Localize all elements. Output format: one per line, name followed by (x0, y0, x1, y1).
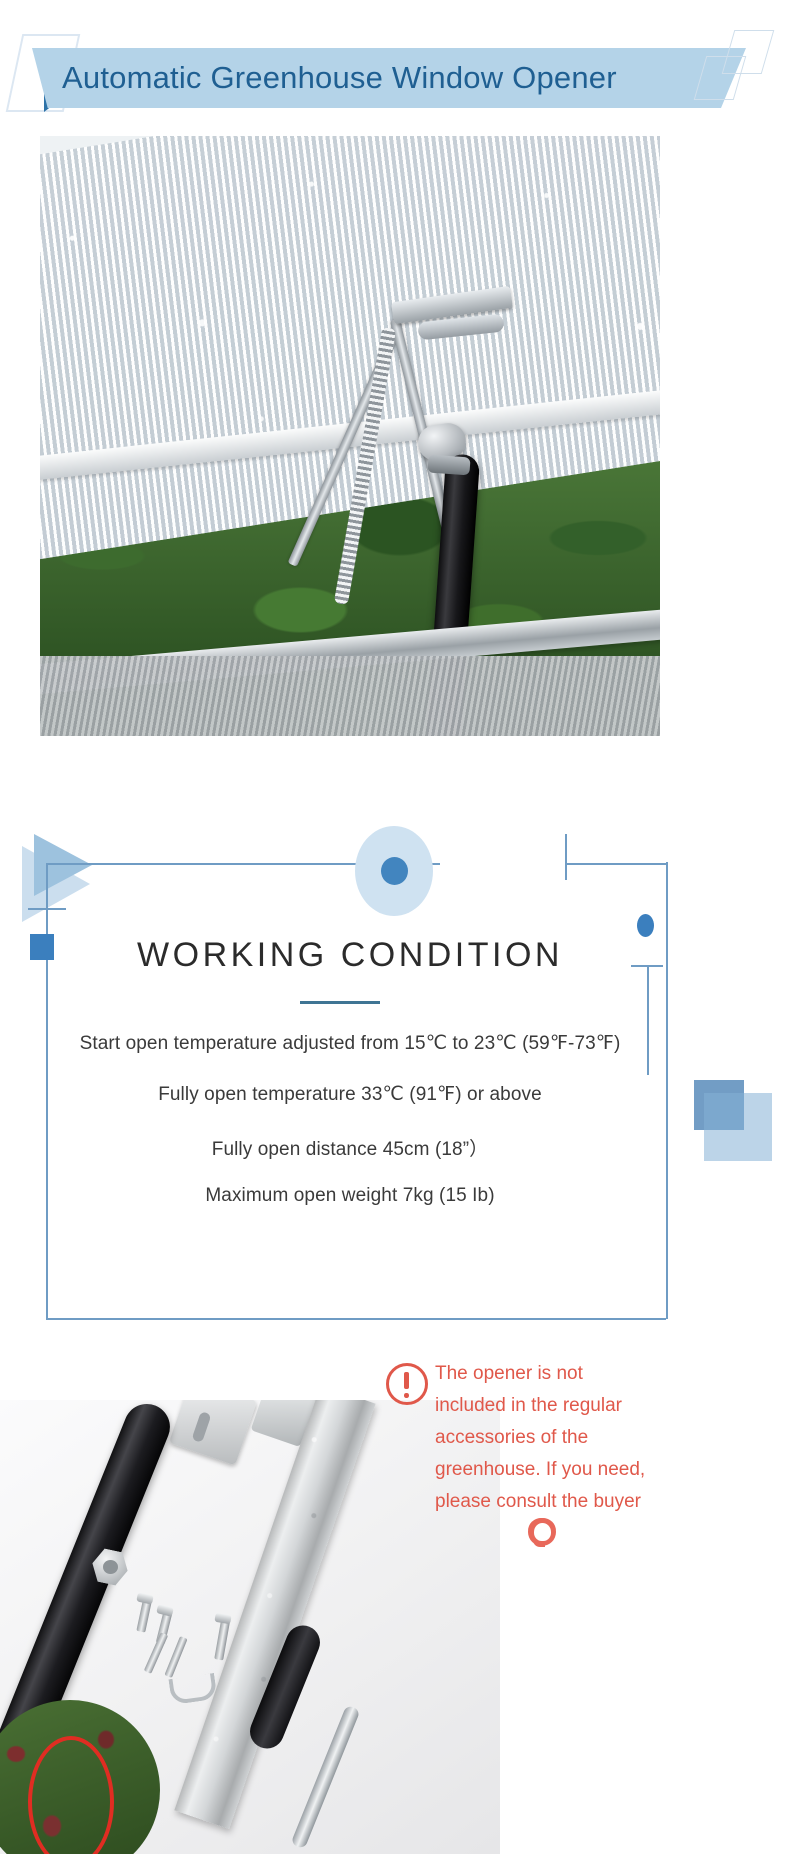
spec-line-open-distance: Fully open distance 45cm (18”） (0, 1134, 700, 1161)
customer-service-headband (528, 1518, 556, 1531)
dot-accent-right (637, 914, 654, 937)
frame-line-right-top (565, 863, 666, 865)
product-infographic-page: Automatic Greenhouse Window Opener (0, 0, 800, 1854)
heading-underline (300, 1001, 380, 1004)
frame-line-bottom (46, 1318, 666, 1320)
customer-service-microphone (533, 1540, 545, 1547)
working-condition-heading: WORKING CONDITION (0, 936, 700, 975)
photo-shade-cloth (40, 656, 660, 736)
triangle-accent-mid (34, 834, 92, 896)
working-condition-section: WORKING CONDITION Start open temperature… (0, 736, 800, 1396)
spec-line-max-weight: Maximum open weight 7kg (15 Ib) (0, 1185, 700, 1207)
photo-opener-collar (427, 455, 470, 476)
exclamation-dot (404, 1393, 409, 1398)
circle-dot-decoration (381, 857, 408, 885)
parts-photo (0, 1400, 500, 1854)
page-title: Automatic Greenhouse Window Opener (62, 50, 722, 106)
header-banner: Automatic Greenhouse Window Opener (0, 0, 800, 140)
warning-text: The opener is not included in the regula… (435, 1358, 655, 1518)
parts-hex-nut-hole (103, 1560, 118, 1574)
tick-mark-right-upper (565, 834, 567, 880)
square-accent-light (704, 1093, 772, 1161)
spec-line-full-open-temperature: Fully open temperature 33℃ (91℉) or abov… (0, 1083, 700, 1106)
exclamation-bar (404, 1372, 409, 1389)
tick-mark-left (28, 908, 66, 910)
tick-line-right-lower (647, 965, 649, 1075)
main-product-photo (40, 136, 660, 736)
spec-line-start-temperature: Start open temperature adjusted from 15℃… (0, 1032, 700, 1055)
